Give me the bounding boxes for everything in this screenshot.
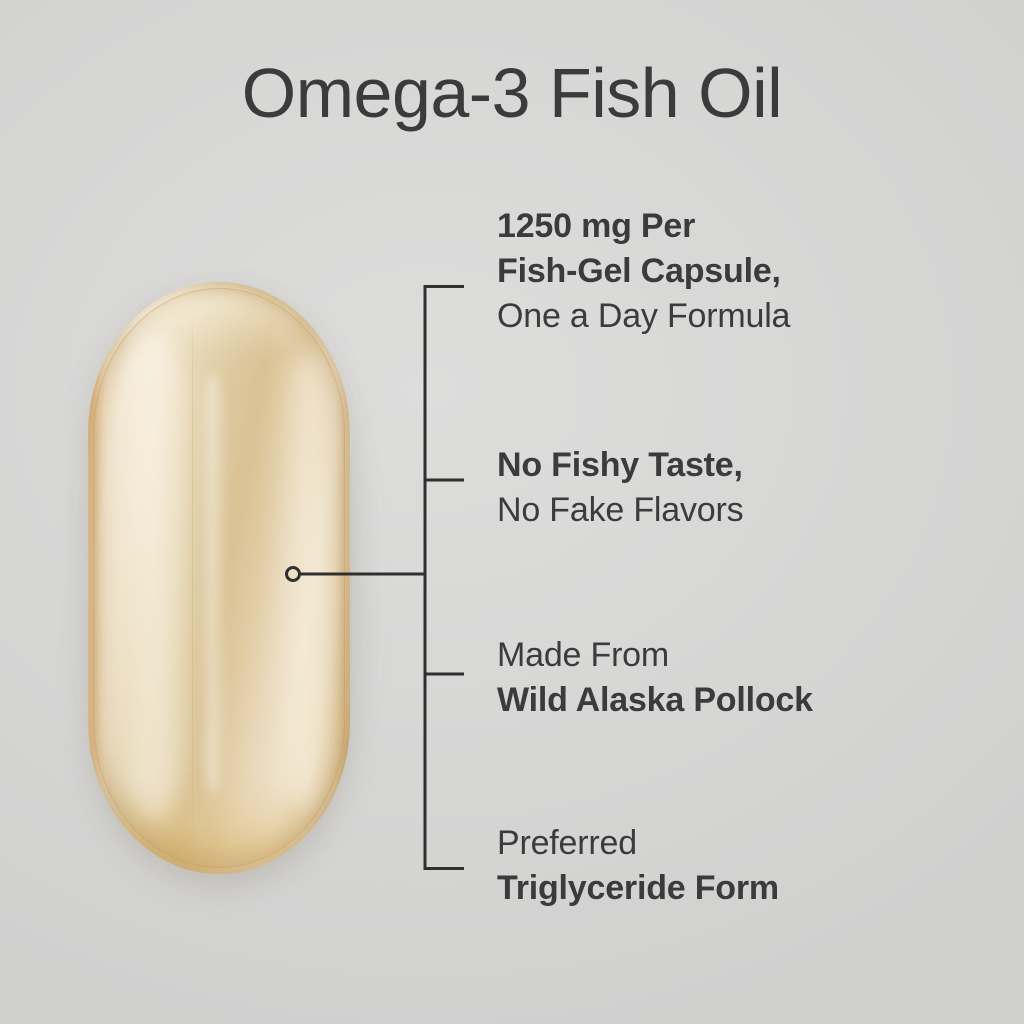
feature-line: Fish-Gel Capsule, (497, 249, 790, 294)
feature-line: Made From (497, 633, 813, 678)
feature-block-form: Preferred Triglyceride Form (497, 821, 779, 911)
feature-line: Preferred (497, 821, 779, 866)
product-capsule-image (72, 262, 372, 892)
feature-line: No Fake Flavors (497, 488, 743, 533)
feature-line: One a Day Formula (497, 294, 790, 339)
infographic-canvas: Omega-3 Fish Oil (0, 0, 1024, 1024)
feature-line: 1250 mg Per (497, 204, 790, 249)
capsule-inner-rim (93, 288, 345, 868)
page-title: Omega-3 Fish Oil (0, 54, 1024, 132)
feature-block-taste: No Fishy Taste, No Fake Flavors (497, 443, 743, 533)
feature-line: No Fishy Taste, (497, 443, 743, 488)
feature-block-dosage: 1250 mg Per Fish-Gel Capsule, One a Day … (497, 204, 790, 339)
capsule-body (88, 282, 350, 874)
feature-block-source: Made From Wild Alaska Pollock (497, 633, 813, 723)
feature-line: Wild Alaska Pollock (497, 678, 813, 723)
feature-line: Triglyceride Form (497, 866, 779, 911)
